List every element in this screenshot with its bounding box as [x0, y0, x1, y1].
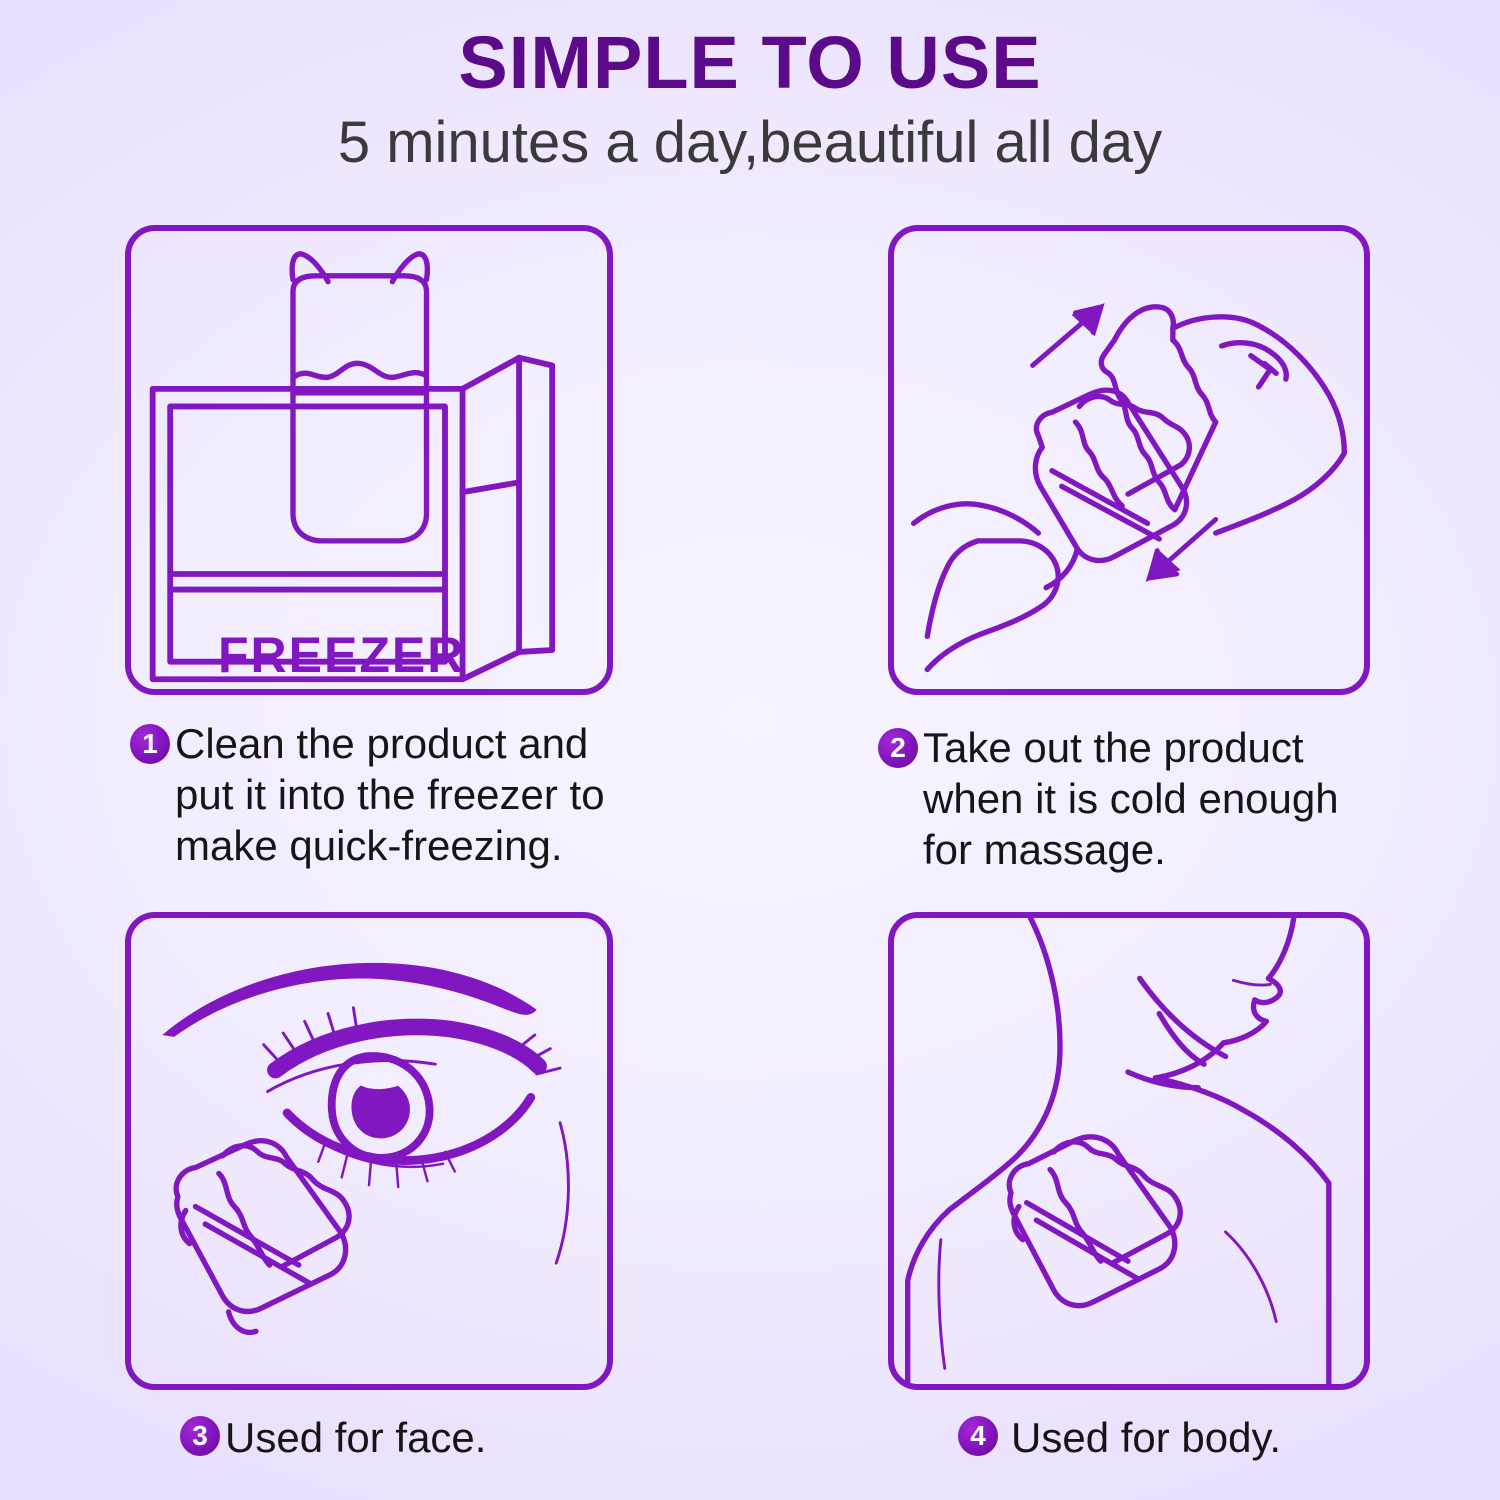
step-4-caption: 4 Used for body. [958, 1412, 1418, 1463]
step-2-panel [888, 225, 1370, 695]
cat-ice-mold-icon [292, 254, 427, 541]
ice-roller-product-icon [1009, 1137, 1180, 1306]
neck-shoulder-body-illustration [894, 918, 1364, 1384]
step-3-caption: 3 Used for face. [180, 1412, 650, 1463]
eyebrow-icon [162, 963, 536, 1037]
step-3-panel [125, 912, 613, 1390]
step-number-badge-2: 2 [878, 728, 918, 768]
page-subtitle: 5 minutes a day,beautiful all day [0, 100, 1500, 172]
step-number-badge-3: 3 [180, 1416, 220, 1456]
eye-face-illustration [131, 918, 607, 1384]
step-4-caption-text: Used for body. [1011, 1412, 1281, 1463]
step-1-caption: 1 Clean the product and put it into the … [130, 718, 650, 872]
step-4-panel [888, 912, 1370, 1390]
ice-roller-product-icon [176, 1141, 349, 1333]
step-1-caption-text: Clean the product and put it into the fr… [175, 718, 605, 872]
step-2-caption-text: Take out the product when it is cold eno… [923, 722, 1339, 876]
step-3-caption-text: Used for face. [225, 1412, 486, 1463]
step-1-panel [125, 225, 613, 695]
step-number-badge-4: 4 [958, 1416, 998, 1456]
step-number-badge-1: 1 [130, 724, 170, 764]
hands-removing-roller-illustration [894, 231, 1364, 689]
header: SIMPLE TO USE 5 minutes a day,beautiful … [0, 0, 1500, 172]
freezer-illustration [131, 231, 607, 689]
freezer-label: FREEZER [218, 626, 465, 684]
infographic-page: SIMPLE TO USE 5 minutes a day,beautiful … [0, 0, 1500, 1500]
page-title: SIMPLE TO USE [0, 0, 1500, 100]
step-2-caption: 2 Take out the product when it is cold e… [878, 722, 1388, 876]
